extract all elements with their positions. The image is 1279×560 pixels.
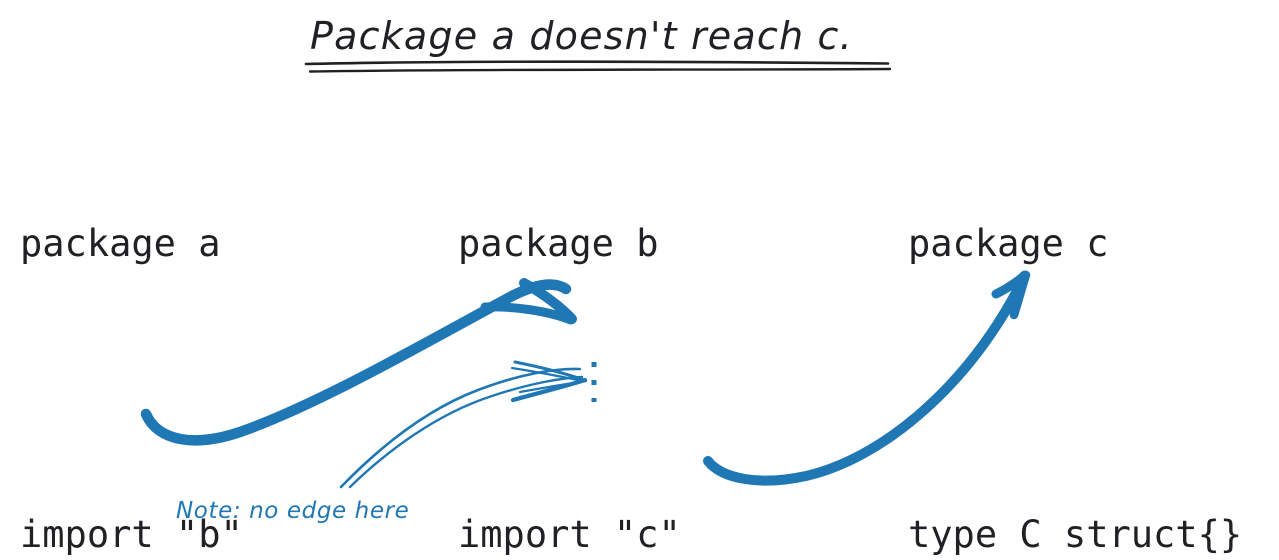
diagram-title: Package a doesn't reach c. — [310, 14, 853, 58]
title-underline — [306, 62, 890, 72]
code-column-a: package a import "b" func A() { b.B1() } — [20, 121, 243, 560]
diagram-canvas: Package a doesn't reach c. package a imp… — [0, 0, 1279, 560]
code-column-b: package b import "c" func B1() {} func B… — [458, 121, 792, 560]
note-label: Note: no edge here — [176, 498, 409, 524]
import-statement-b: import "c" — [458, 510, 792, 559]
type-c-declaration: type C struct{} — [908, 510, 1242, 559]
column-b-spacer-1 — [458, 366, 792, 412]
package-declaration-c: package c — [908, 219, 1242, 268]
package-declaration-b: package b — [458, 219, 792, 268]
package-declaration-a: package a — [20, 219, 243, 268]
column-c-spacer-1 — [908, 366, 1242, 412]
code-column-c: package c type C struct{} — [908, 121, 1242, 560]
column-a-spacer-1 — [20, 366, 243, 412]
